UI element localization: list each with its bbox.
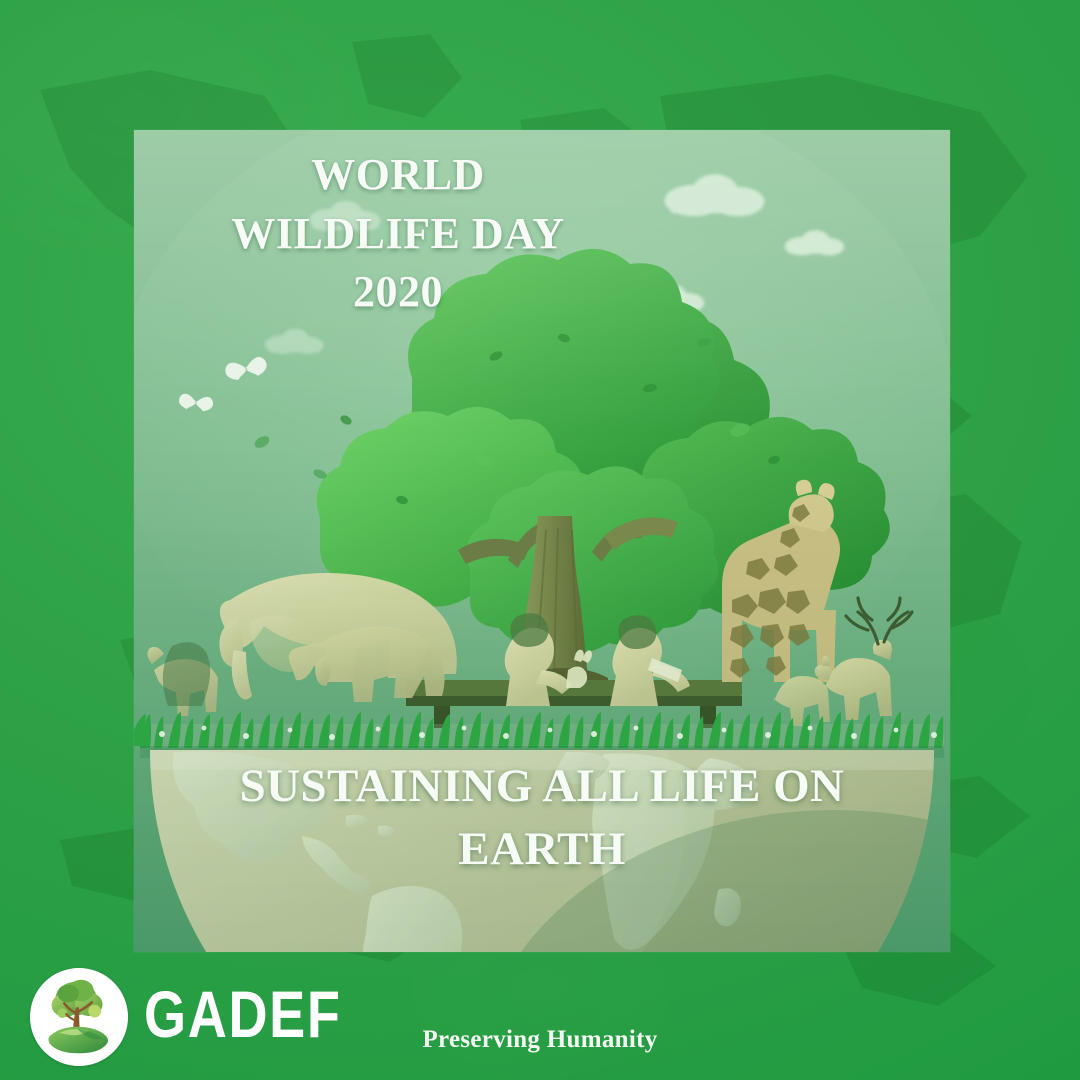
gadef-logo (30, 968, 128, 1066)
headline-line-2: WILDLIFE DAY (158, 205, 638, 264)
brand-name: GADEF (144, 981, 342, 1053)
headline-line-3: 2020 (158, 263, 638, 322)
poster-tagline: SUSTAINING ALL LIFE ON EARTH (182, 755, 902, 882)
tagline-line-1: SUSTAINING ALL LIFE ON (182, 755, 902, 818)
headline-line-1: WORLD (158, 146, 638, 205)
tagline-line-2: EARTH (182, 818, 902, 881)
artwork-panel: WORLD WILDLIFE DAY 2020 SUSTAINING ALL L… (134, 130, 950, 952)
brand-lockup: GADEF (30, 968, 385, 1066)
headline: WORLD WILDLIFE DAY 2020 (158, 146, 638, 322)
poster-canvas: WORLD WILDLIFE DAY 2020 SUSTAINING ALL L… (0, 0, 1080, 1080)
tree-in-hand-icon (30, 968, 128, 1066)
